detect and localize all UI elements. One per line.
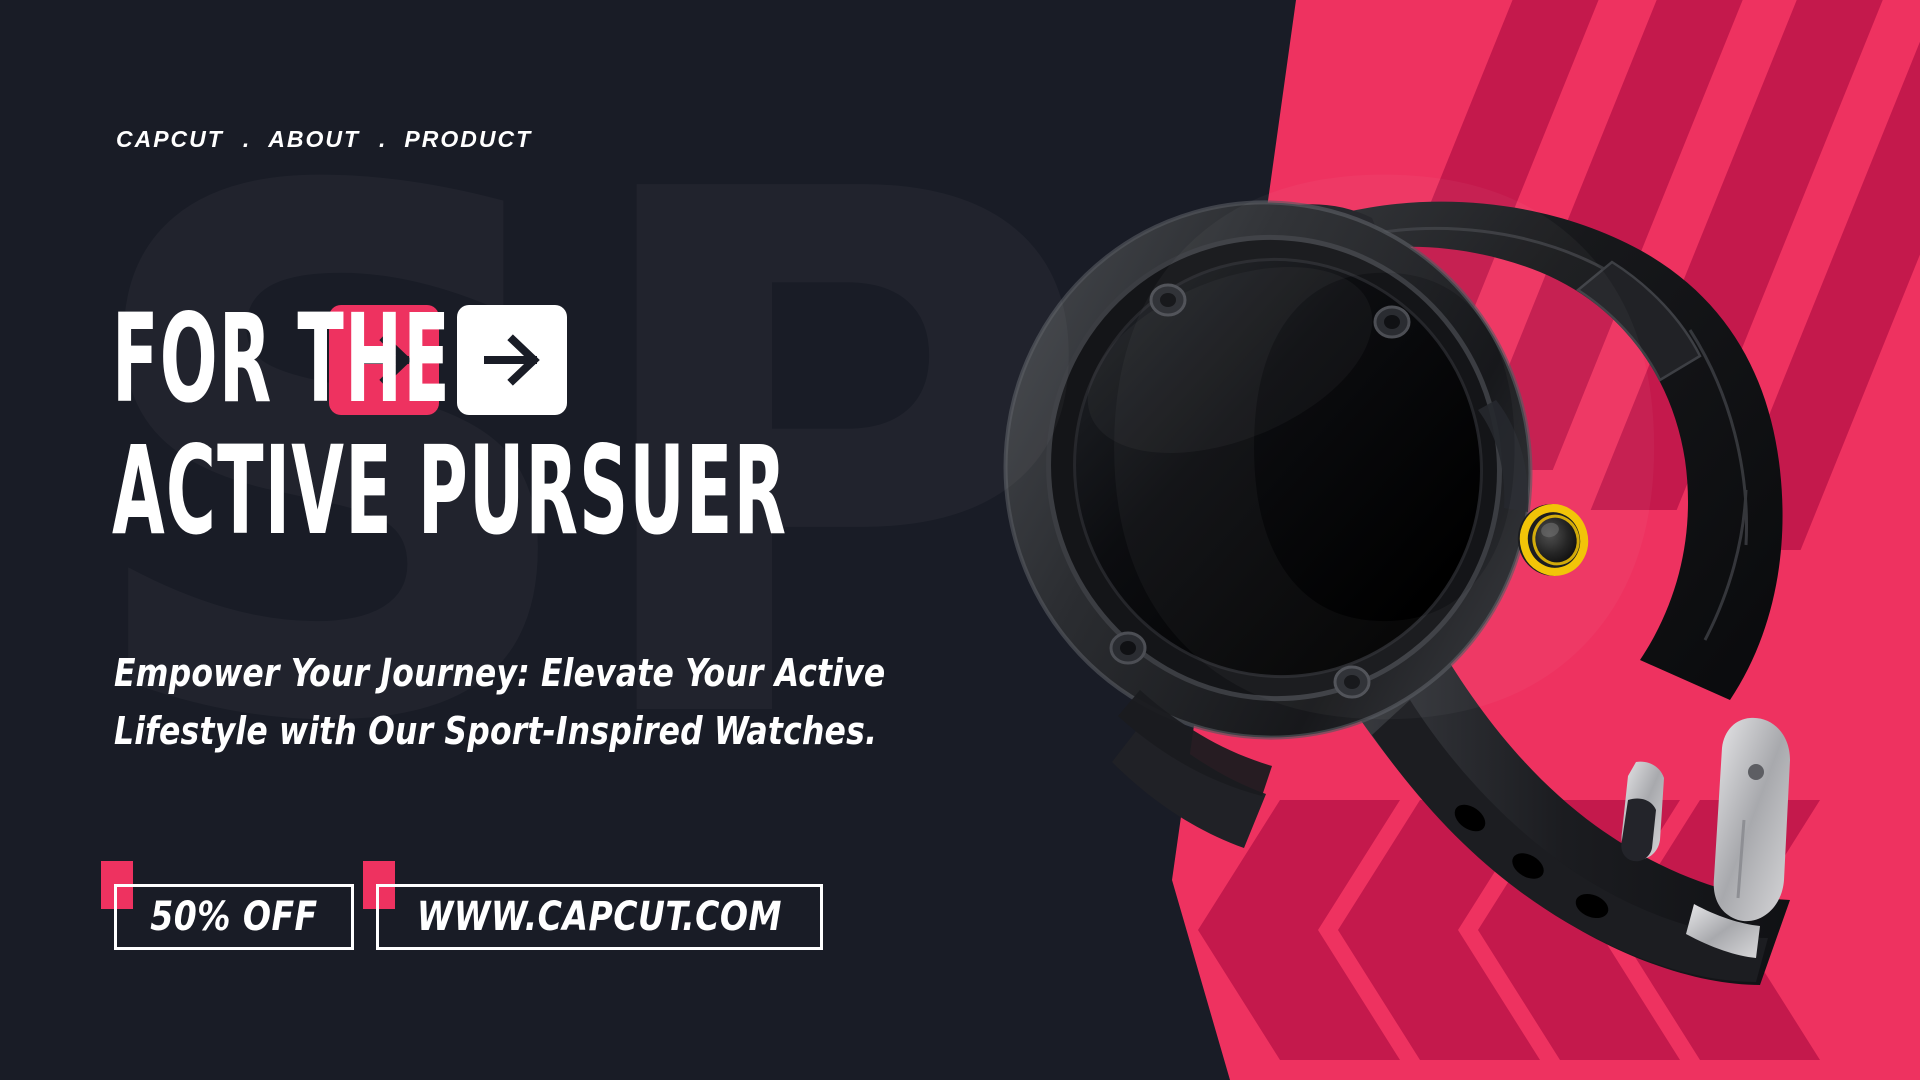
subtitle-line-2: Lifestyle with Our Sport-Inspired Watche… bbox=[114, 703, 924, 761]
subtitle-line-1: Empower Your Journey: Elevate Your Activ… bbox=[114, 645, 924, 703]
nav-item-about[interactable]: ABOUT bbox=[268, 126, 360, 153]
content-column: SPO CAPCUT . ABOUT . PRODUCT FOR THE bbox=[0, 0, 1230, 1080]
discount-badge: 50% OFF bbox=[114, 884, 354, 950]
discount-badge-label: 50% OFF bbox=[150, 894, 317, 940]
nav-separator-2: . bbox=[360, 126, 404, 153]
secondary-arrow-button[interactable] bbox=[457, 305, 567, 415]
headline-line-1: FOR THE bbox=[112, 300, 451, 420]
nav-separator-1: . bbox=[224, 126, 268, 153]
headline-row-1: FOR THE bbox=[112, 300, 1201, 420]
headline-block: FOR THE bbox=[112, 300, 1201, 551]
headline-line-2: ACTIVE PURSUER bbox=[112, 432, 787, 552]
top-navigation: CAPCUT . ABOUT . PRODUCT bbox=[116, 126, 532, 153]
badge-accent-square bbox=[101, 861, 133, 909]
promo-banner: SPO CAPCUT . ABOUT . PRODUCT FOR THE bbox=[0, 0, 1920, 1080]
nav-item-product[interactable]: PRODUCT bbox=[404, 126, 532, 153]
nav-item-capcut[interactable]: CAPCUT bbox=[116, 126, 224, 153]
subtitle-block: Empower Your Journey: Elevate Your Activ… bbox=[114, 645, 924, 761]
website-badge[interactable]: WWW.CAPCUT.COM bbox=[376, 884, 823, 950]
headline-row-2: ACTIVE PURSUER bbox=[112, 432, 1201, 552]
website-badge-label: WWW.CAPCUT.COM bbox=[417, 894, 782, 940]
arrow-right-icon bbox=[481, 329, 543, 391]
badge-group: 50% OFF WWW.CAPCUT.COM bbox=[114, 868, 823, 950]
badge-accent-square bbox=[363, 861, 395, 909]
